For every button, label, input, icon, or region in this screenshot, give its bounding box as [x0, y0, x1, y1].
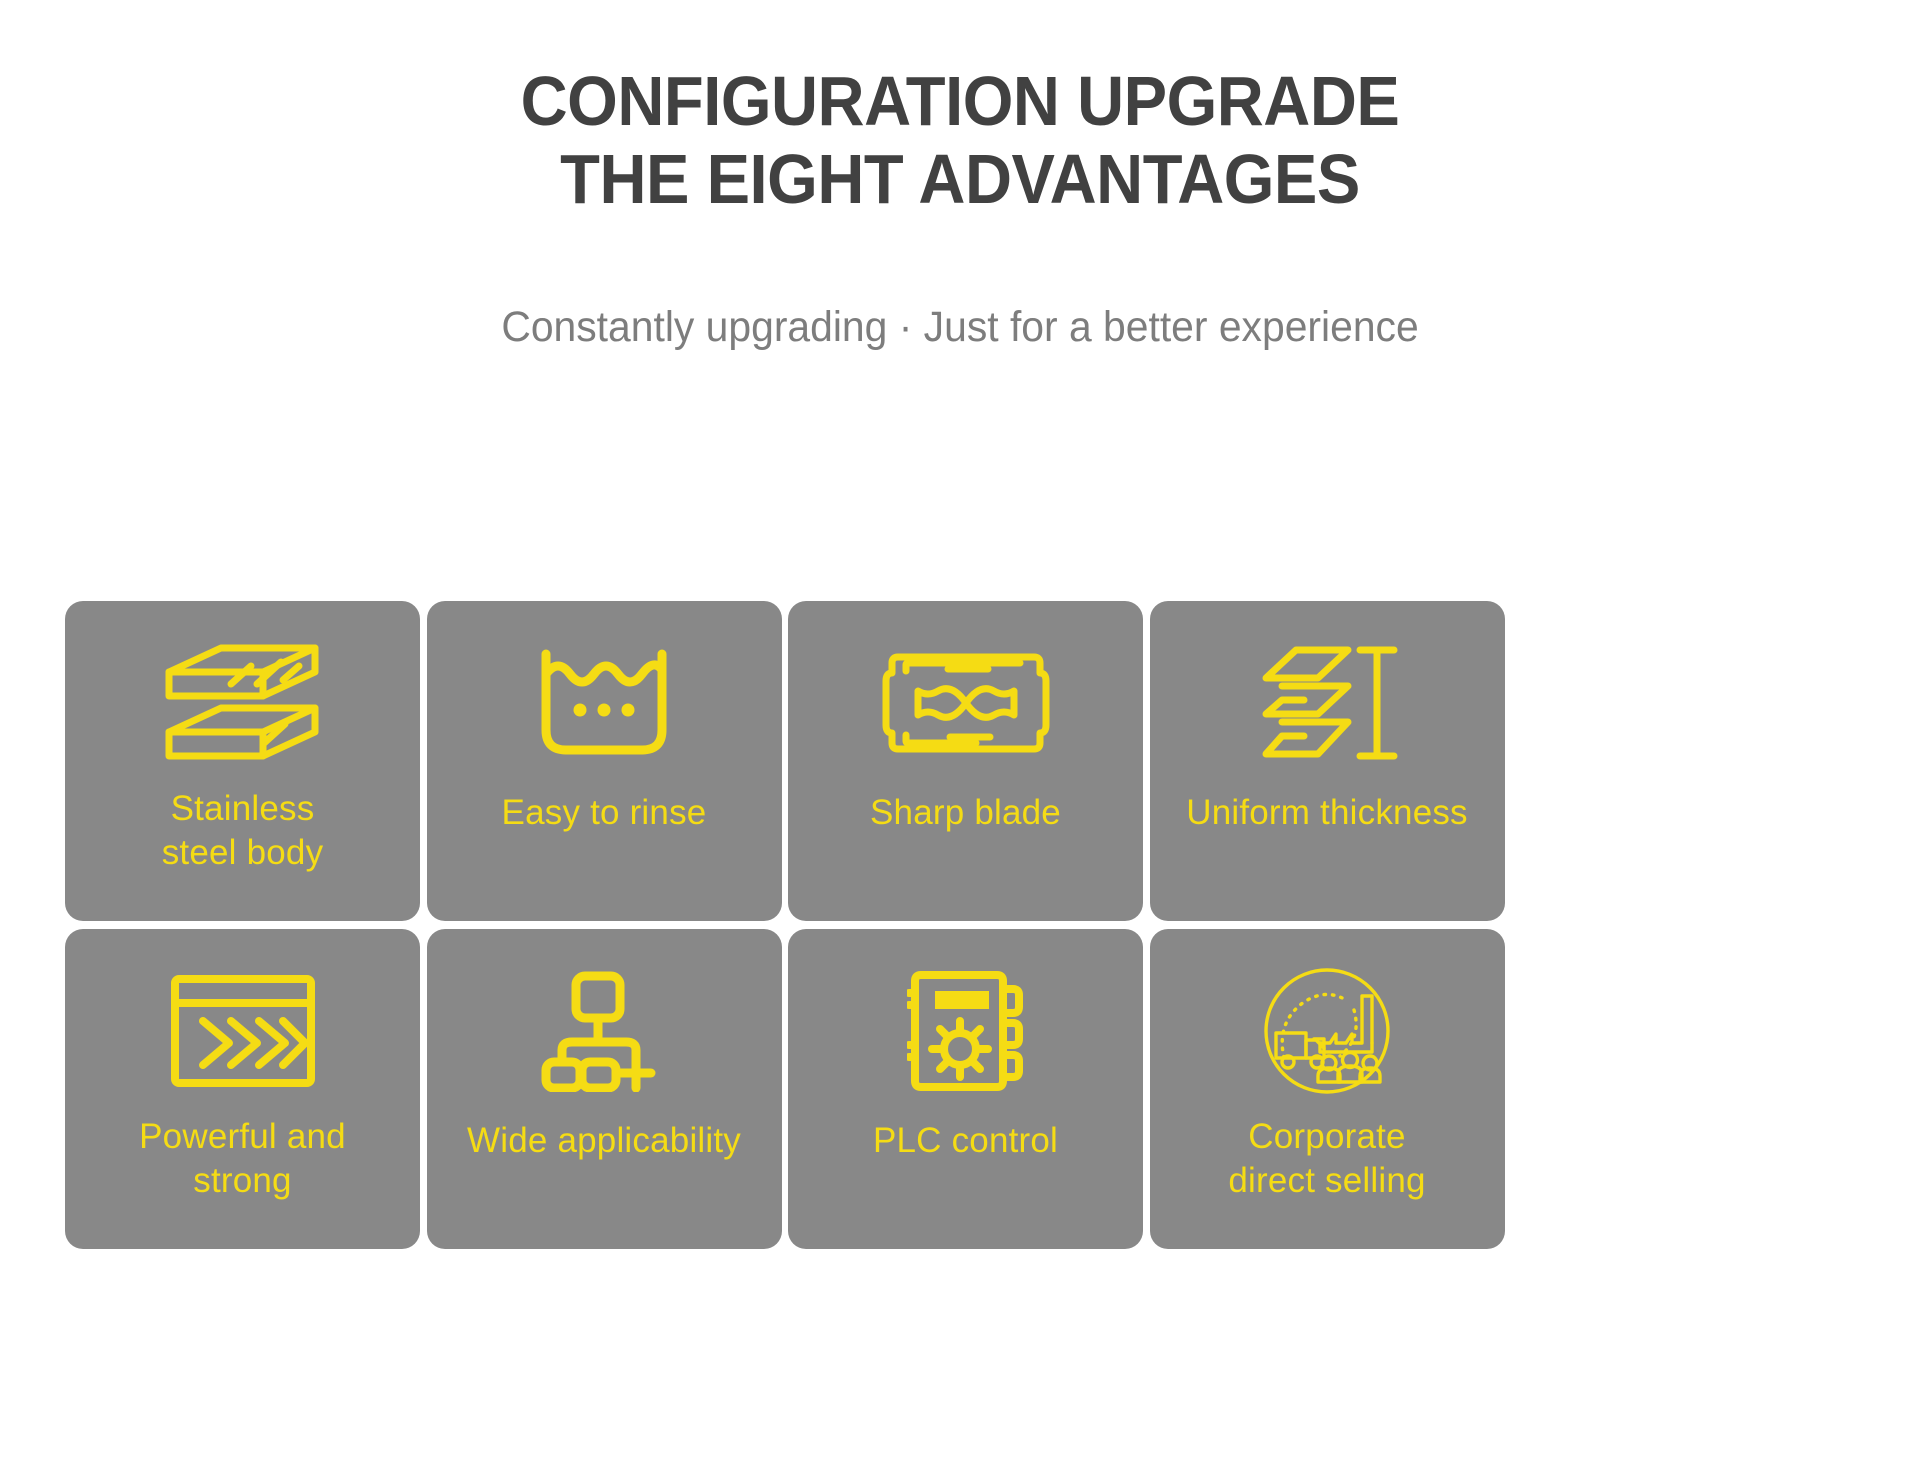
advantage-label: Easy to rinse	[492, 791, 717, 835]
advantage-card-easy-to-rinse[interactable]: Easy to rinse	[427, 601, 782, 921]
advantage-label: Wide applicability	[457, 1119, 751, 1163]
advantage-label: Corporate direct selling	[1218, 1115, 1435, 1203]
advantage-label: Sharp blade	[860, 791, 1071, 835]
page-title: CONFIGURATION UPGRADE THE EIGHT ADVANTAG…	[67, 62, 1853, 219]
advantage-label: Powerful and strong	[129, 1115, 356, 1203]
advantage-card-sharp-blade[interactable]: Sharp blade	[788, 601, 1143, 921]
page-title-line-2: THE EIGHT ADVANTAGES	[67, 140, 1853, 218]
stacked-plates-icon	[65, 601, 420, 791]
layer-thickness-gauge-icon	[1150, 601, 1505, 791]
advantage-card-corporate-direct-selling[interactable]: Corporate direct selling	[1150, 929, 1505, 1249]
wash-basin-icon	[427, 601, 782, 791]
plc-controller-icon	[788, 929, 1143, 1119]
hierarchy-plus-icon	[427, 929, 782, 1119]
advantage-card-wide-applicability[interactable]: Wide applicability	[427, 929, 782, 1249]
header: CONFIGURATION UPGRADE THE EIGHT ADVANTAG…	[0, 0, 1920, 352]
advantage-label: Uniform thickness	[1176, 791, 1478, 835]
advantages-grid: Stainless steel body Easy to rinse	[65, 601, 1855, 1249]
advantage-label: Stainless steel body	[152, 787, 334, 875]
advantage-card-uniform-thickness[interactable]: Uniform thickness	[1150, 601, 1505, 921]
advantage-card-stainless-steel-body[interactable]: Stainless steel body	[65, 601, 420, 921]
page-subtitle: Constantly upgrading · Just for a better…	[48, 303, 1872, 352]
factory-direct-sales-icon	[1150, 929, 1505, 1119]
razor-blade-icon	[788, 601, 1143, 791]
chevron-power-icon	[65, 929, 420, 1119]
infographic-page: CONFIGURATION UPGRADE THE EIGHT ADVANTAG…	[0, 0, 1920, 1483]
page-title-line-1: CONFIGURATION UPGRADE	[67, 62, 1853, 140]
advantage-label: PLC control	[863, 1119, 1068, 1163]
advantage-card-powerful-and-strong[interactable]: Powerful and strong	[65, 929, 420, 1249]
advantage-card-plc-control[interactable]: PLC control	[788, 929, 1143, 1249]
